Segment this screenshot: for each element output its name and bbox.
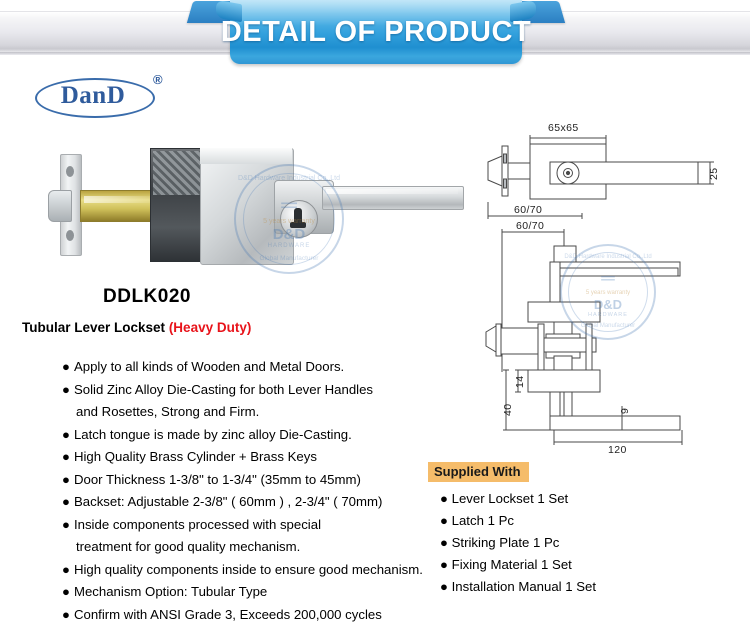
bullet-icon: ● <box>440 535 452 550</box>
latch-bolt-tip <box>48 190 72 222</box>
supplied-text: Latch 1 Pc <box>452 513 514 528</box>
bullet-icon: ● <box>62 472 70 487</box>
feature-text: Confirm with ANSI Grade 3, Exceeds 200,0… <box>74 607 382 622</box>
dim-40: 40 <box>502 404 514 416</box>
stamp-company-arc: D&D Hardware Industrial Co.,Ltd <box>236 175 342 182</box>
supplied-item: ● Striking Plate 1 Pc <box>440 532 728 554</box>
feature-text: Door Thickness 1-3/8" to 1-3/4" (35mm to… <box>74 472 361 487</box>
feature-item: ●Door Thickness 1-3/8" to 1-3/4" (35mm t… <box>62 469 472 492</box>
feature-item: ●High quality components inside to ensur… <box>62 559 472 582</box>
supplied-text: Lever Lockset 1 Set <box>452 491 569 506</box>
stamp-tagline-arc: Global Manufacturer <box>562 323 654 329</box>
ribbon-body: DETAIL OF PRODUCT <box>230 0 522 64</box>
subtitle-highlight: (Heavy Duty) <box>169 320 252 335</box>
stamp-company-arc: D&D Hardware Industrial Co.,Ltd <box>562 254 654 260</box>
feature-item: treatment for good quality mechanism. <box>62 536 472 559</box>
banner-ribbon: DETAIL OF PRODUCT <box>190 0 562 68</box>
brand-logo: DanD ® <box>35 72 185 118</box>
drawing-plan-view: 65x65 25 60/70 <box>462 118 742 226</box>
logo-text: DanD <box>35 78 151 114</box>
bullet-icon: ● <box>62 517 70 532</box>
dim-60-70-side: 60/70 <box>516 220 544 232</box>
strike-plate-screw-hole <box>66 230 74 241</box>
latch-highlight <box>84 196 154 203</box>
feature-item: ●Solid Zinc Alloy Die-Casting for both L… <box>62 379 472 402</box>
stamp-tagline-arc: Global Manufacturer <box>236 255 342 262</box>
feature-item: ●Apply to all kinds of Wooden and Metal … <box>62 356 472 379</box>
bullet-icon: ● <box>440 513 452 528</box>
feature-text: High Quality Brass Cylinder + Brass Keys <box>74 449 317 464</box>
feature-text: treatment for good quality mechanism. <box>76 539 300 554</box>
bullet-icon: ● <box>440 491 452 506</box>
plan-view-svg <box>462 118 742 226</box>
supplied-with-list: ● Lever Lockset 1 Set● Latch 1 Pc● Strik… <box>440 488 728 598</box>
page-header: DETAIL OF PRODUCT <box>0 0 750 68</box>
feature-text: Inside components processed with special <box>74 517 321 532</box>
strike-plate-screw-hole <box>66 166 74 177</box>
feature-item: ●Mechanism Option: Tubular Type <box>62 581 472 604</box>
bullet-icon: ● <box>62 494 70 509</box>
supplied-with-section: Supplied With ● Lever Lockset 1 Set● Lat… <box>428 462 728 598</box>
feature-item: ●Confirm with ANSI Grade 3, Exceeds 200,… <box>62 604 472 627</box>
watermark-stamp: D&D Hardware Industrial Co.,Ltd ═ 5 year… <box>560 244 656 340</box>
feature-text: Backset: Adjustable 2-3/8" ( 60mm ) , 2-… <box>74 494 382 509</box>
supplied-item: ● Installation Manual 1 Set <box>440 576 728 598</box>
stamp-inner-ring <box>568 252 648 332</box>
product-detail-page: DETAIL OF PRODUCT DanD ® D&D Hardware In… <box>0 0 750 641</box>
brass-latch-body <box>80 190 160 222</box>
feature-text: Mechanism Option: Tubular Type <box>74 584 267 599</box>
bullet-icon: ● <box>440 557 452 572</box>
feature-text: and Rosettes, Strong and Firm. <box>76 404 259 419</box>
drawing-elevation-view: 60/70 14 40 9 120 D&D Hardware Industria… <box>462 220 742 452</box>
registered-trademark-icon: ® <box>153 72 163 87</box>
dim-65x65: 65x65 <box>548 122 579 134</box>
feature-text: Apply to all kinds of Wooden and Metal D… <box>74 359 344 374</box>
product-photo: D&D Hardware Industrial Co.,Ltd ═ 5 year… <box>22 128 367 278</box>
dim-120: 120 <box>608 444 627 456</box>
bullet-icon: ● <box>62 449 70 464</box>
dim-14: 14 <box>514 376 526 388</box>
feature-item: ●High Quality Brass Cylinder + Brass Key… <box>62 446 472 469</box>
banner-title: DETAIL OF PRODUCT <box>230 0 522 64</box>
handle-highlight <box>326 189 458 194</box>
supplied-with-heading: Supplied With <box>428 462 529 482</box>
supplied-item: ● Fixing Material 1 Set <box>440 554 728 576</box>
stamp-inner-ring <box>243 173 335 265</box>
feature-text: Latch tongue is made by zinc alloy Die-C… <box>74 427 352 442</box>
feature-text: High quality components inside to ensure… <box>74 562 423 577</box>
supplied-item: ● Latch 1 Pc <box>440 510 728 532</box>
supplied-text: Installation Manual 1 Set <box>452 579 596 594</box>
bullet-icon: ● <box>62 427 70 442</box>
bullet-icon: ● <box>62 562 70 577</box>
dim-25: 25 <box>708 168 720 180</box>
bullet-icon: ● <box>62 607 70 622</box>
feature-item: ●Inside components processed with specia… <box>62 514 472 537</box>
rosette-edge-highlight <box>200 148 292 164</box>
supplied-text: Fixing Material 1 Set <box>452 557 572 572</box>
feature-item: ●Latch tongue is made by zinc alloy Die-… <box>62 424 472 447</box>
bullet-icon: ● <box>62 584 70 599</box>
dim-60-70-top: 60/70 <box>514 204 542 216</box>
watermark-stamp: D&D Hardware Industrial Co.,Ltd ═ 5 year… <box>234 164 344 274</box>
product-subtitle: Tubular Lever Lockset (Heavy Duty) <box>22 320 251 335</box>
feature-list: ●Apply to all kinds of Wooden and Metal … <box>22 356 472 626</box>
feature-item: ●Backset: Adjustable 2-3/8" ( 60mm ) , 2… <box>62 491 472 514</box>
feature-item: and Rosettes, Strong and Firm. <box>62 401 472 424</box>
bullet-icon: ● <box>440 579 452 594</box>
feature-text: Solid Zinc Alloy Die-Casting for both Le… <box>74 382 373 397</box>
dim-9: 9 <box>619 408 631 414</box>
bullet-icon: ● <box>62 359 70 374</box>
supplied-item: ● Lever Lockset 1 Set <box>440 488 728 510</box>
housing-texture <box>153 151 205 195</box>
supplied-text: Striking Plate 1 Pc <box>452 535 560 550</box>
bullet-icon: ● <box>62 382 70 397</box>
subtitle-main: Tubular Lever Lockset <box>22 320 165 335</box>
product-model-title: DDLK020 <box>103 286 191 308</box>
